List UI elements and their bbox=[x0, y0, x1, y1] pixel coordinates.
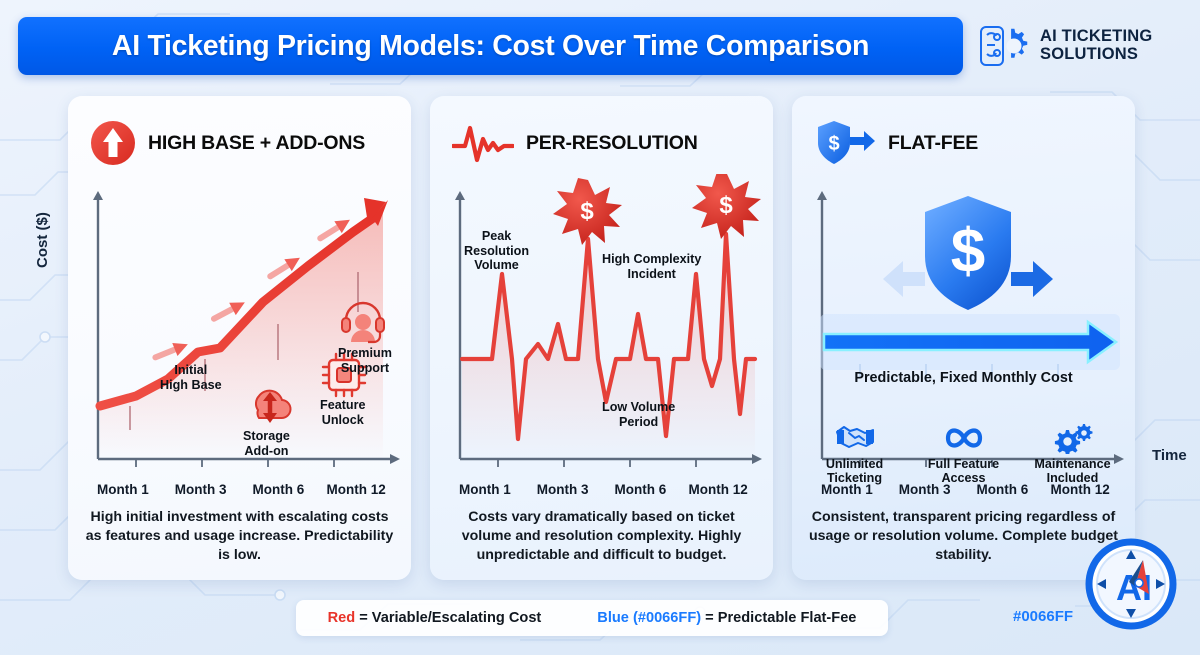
fixed-cost-note: Predictable, Fixed Monthly Cost bbox=[792, 370, 1135, 386]
panel-3-month-axis: Month 1 Month 3 Month 6 Month 12 bbox=[792, 482, 1135, 497]
feature-unlimited-ticketing[interactable]: Unlimited Ticketing bbox=[800, 422, 909, 486]
panel-1-chart: Initial High Base Storage Add-on Feature… bbox=[68, 174, 411, 479]
panel-2-month-axis: Month 1 Month 3 Month 6 Month 12 bbox=[430, 482, 773, 497]
legend-blue-key: Blue (#0066FF) bbox=[597, 610, 701, 626]
brand-hex-code: #0066FF bbox=[1013, 608, 1073, 625]
legend-blue-text: = Predictable Flat-Fee bbox=[701, 610, 856, 626]
month-tick: Month 6 bbox=[602, 482, 680, 497]
month-tick: Month 1 bbox=[446, 482, 524, 497]
month-tick: Month 6 bbox=[964, 482, 1042, 497]
panel-3-caption: Consistent, transparent pricing regardle… bbox=[808, 508, 1119, 565]
brand-line-1: AI TICKETING bbox=[1040, 28, 1152, 46]
panel-3-header: $ FLAT-FEE bbox=[792, 112, 1135, 174]
month-tick: Month 1 bbox=[808, 482, 886, 497]
svg-text:$: $ bbox=[719, 192, 733, 219]
panel-1-month-axis: Month 1 Month 3 Month 6 Month 12 bbox=[68, 482, 411, 497]
header: AI Ticketing Pricing Models: Cost Over T… bbox=[0, 0, 1200, 92]
x-axis-label: Time bbox=[1152, 447, 1187, 464]
infinity-icon bbox=[942, 422, 986, 454]
annotation-feature-unlock: Feature Unlock bbox=[320, 398, 366, 427]
month-tick: Month 3 bbox=[162, 482, 240, 497]
dollar-burst-icon: $ bbox=[553, 178, 622, 245]
panel-1-title: HIGH BASE + ADD-ONS bbox=[148, 132, 365, 155]
dollar-burst-icon: $ bbox=[692, 174, 761, 239]
month-tick: Month 1 bbox=[84, 482, 162, 497]
legend-red-entry: Red = Variable/Escalating Cost bbox=[328, 610, 542, 626]
month-tick: Month 12 bbox=[317, 482, 395, 497]
svg-text:$: $ bbox=[580, 198, 594, 225]
panel-flat-fee[interactable]: $ FLAT-FEE bbox=[792, 96, 1135, 580]
handshake-icon bbox=[835, 422, 875, 454]
brand-name: AI TICKETING SOLUTIONS bbox=[1040, 28, 1152, 64]
panel-container: HIGH BASE + ADD-ONS bbox=[68, 96, 1136, 580]
svg-text:$: $ bbox=[828, 133, 839, 155]
annotation-initial-high-base: Initial High Base bbox=[160, 363, 222, 392]
panel-3-chart: $ Predictable, Fixed Monthly Cost bbox=[792, 174, 1135, 479]
panel-2-title: PER-RESOLUTION bbox=[526, 132, 698, 155]
panel-1-caption: High initial investment with escalating … bbox=[84, 508, 395, 565]
feature-full-feature-access[interactable]: Full Feature Access bbox=[909, 422, 1018, 486]
panel-high-base-add-ons[interactable]: HIGH BASE + ADD-ONS bbox=[68, 96, 411, 580]
legend-bar: Red = Variable/Escalating Cost Blue (#00… bbox=[296, 600, 888, 636]
month-tick: Month 12 bbox=[679, 482, 757, 497]
annotation-high-complexity-incident: High Complexity Incident bbox=[602, 252, 701, 281]
blue-shield-dollar-arrow-icon: $ bbox=[814, 119, 876, 167]
y-axis-label: Cost ($) bbox=[34, 212, 51, 268]
svg-text:$: $ bbox=[951, 217, 985, 286]
brand-line-2: SOLUTIONS bbox=[1040, 46, 1152, 64]
month-tick: Month 3 bbox=[524, 482, 602, 497]
annotation-premium-support: Premium Support bbox=[338, 346, 392, 375]
brand-logo: AI TICKETING SOLUTIONS bbox=[979, 21, 1152, 71]
legend-red-key: Red bbox=[328, 610, 356, 626]
annotation-peak-resolution-volume: Peak Resolution Volume bbox=[464, 229, 529, 273]
brain-gear-icon bbox=[979, 21, 1033, 71]
ai-compass-logo: AI bbox=[1085, 538, 1177, 630]
annotation-low-volume-period: Low Volume Period bbox=[602, 400, 675, 429]
flat-fee-feature-row: Unlimited Ticketing Full Feature Access bbox=[800, 422, 1127, 486]
red-up-arrow-circle-icon bbox=[90, 120, 136, 166]
month-tick: Month 3 bbox=[886, 482, 964, 497]
feature-maintenance-included[interactable]: Maintenance Included bbox=[1018, 422, 1127, 486]
panel-per-resolution[interactable]: PER-RESOLUTION bbox=[430, 96, 773, 580]
legend-blue-entry: Blue (#0066FF) = Predictable Flat-Fee bbox=[597, 610, 856, 626]
gears-icon bbox=[1052, 422, 1094, 454]
panel-2-caption: Costs vary dramatically based on ticket … bbox=[446, 508, 757, 565]
annotation-storage-add-on: Storage Add-on bbox=[243, 429, 290, 458]
panel-2-header: PER-RESOLUTION bbox=[430, 112, 773, 174]
legend-red-text: = Variable/Escalating Cost bbox=[355, 610, 541, 626]
title-bar: AI Ticketing Pricing Models: Cost Over T… bbox=[18, 17, 963, 75]
page-title: AI Ticketing Pricing Models: Cost Over T… bbox=[112, 30, 869, 63]
shield-dollar-stability-icon: $ bbox=[925, 196, 1011, 310]
panel-2-chart: $ $ Peak Resolution Volume High Complexi… bbox=[430, 174, 773, 479]
month-tick: Month 12 bbox=[1041, 482, 1119, 497]
panel-1-header: HIGH BASE + ADD-ONS bbox=[68, 112, 411, 174]
month-tick: Month 6 bbox=[240, 482, 318, 497]
panel-3-title: FLAT-FEE bbox=[888, 132, 978, 155]
heartbeat-pulse-icon bbox=[452, 120, 514, 166]
